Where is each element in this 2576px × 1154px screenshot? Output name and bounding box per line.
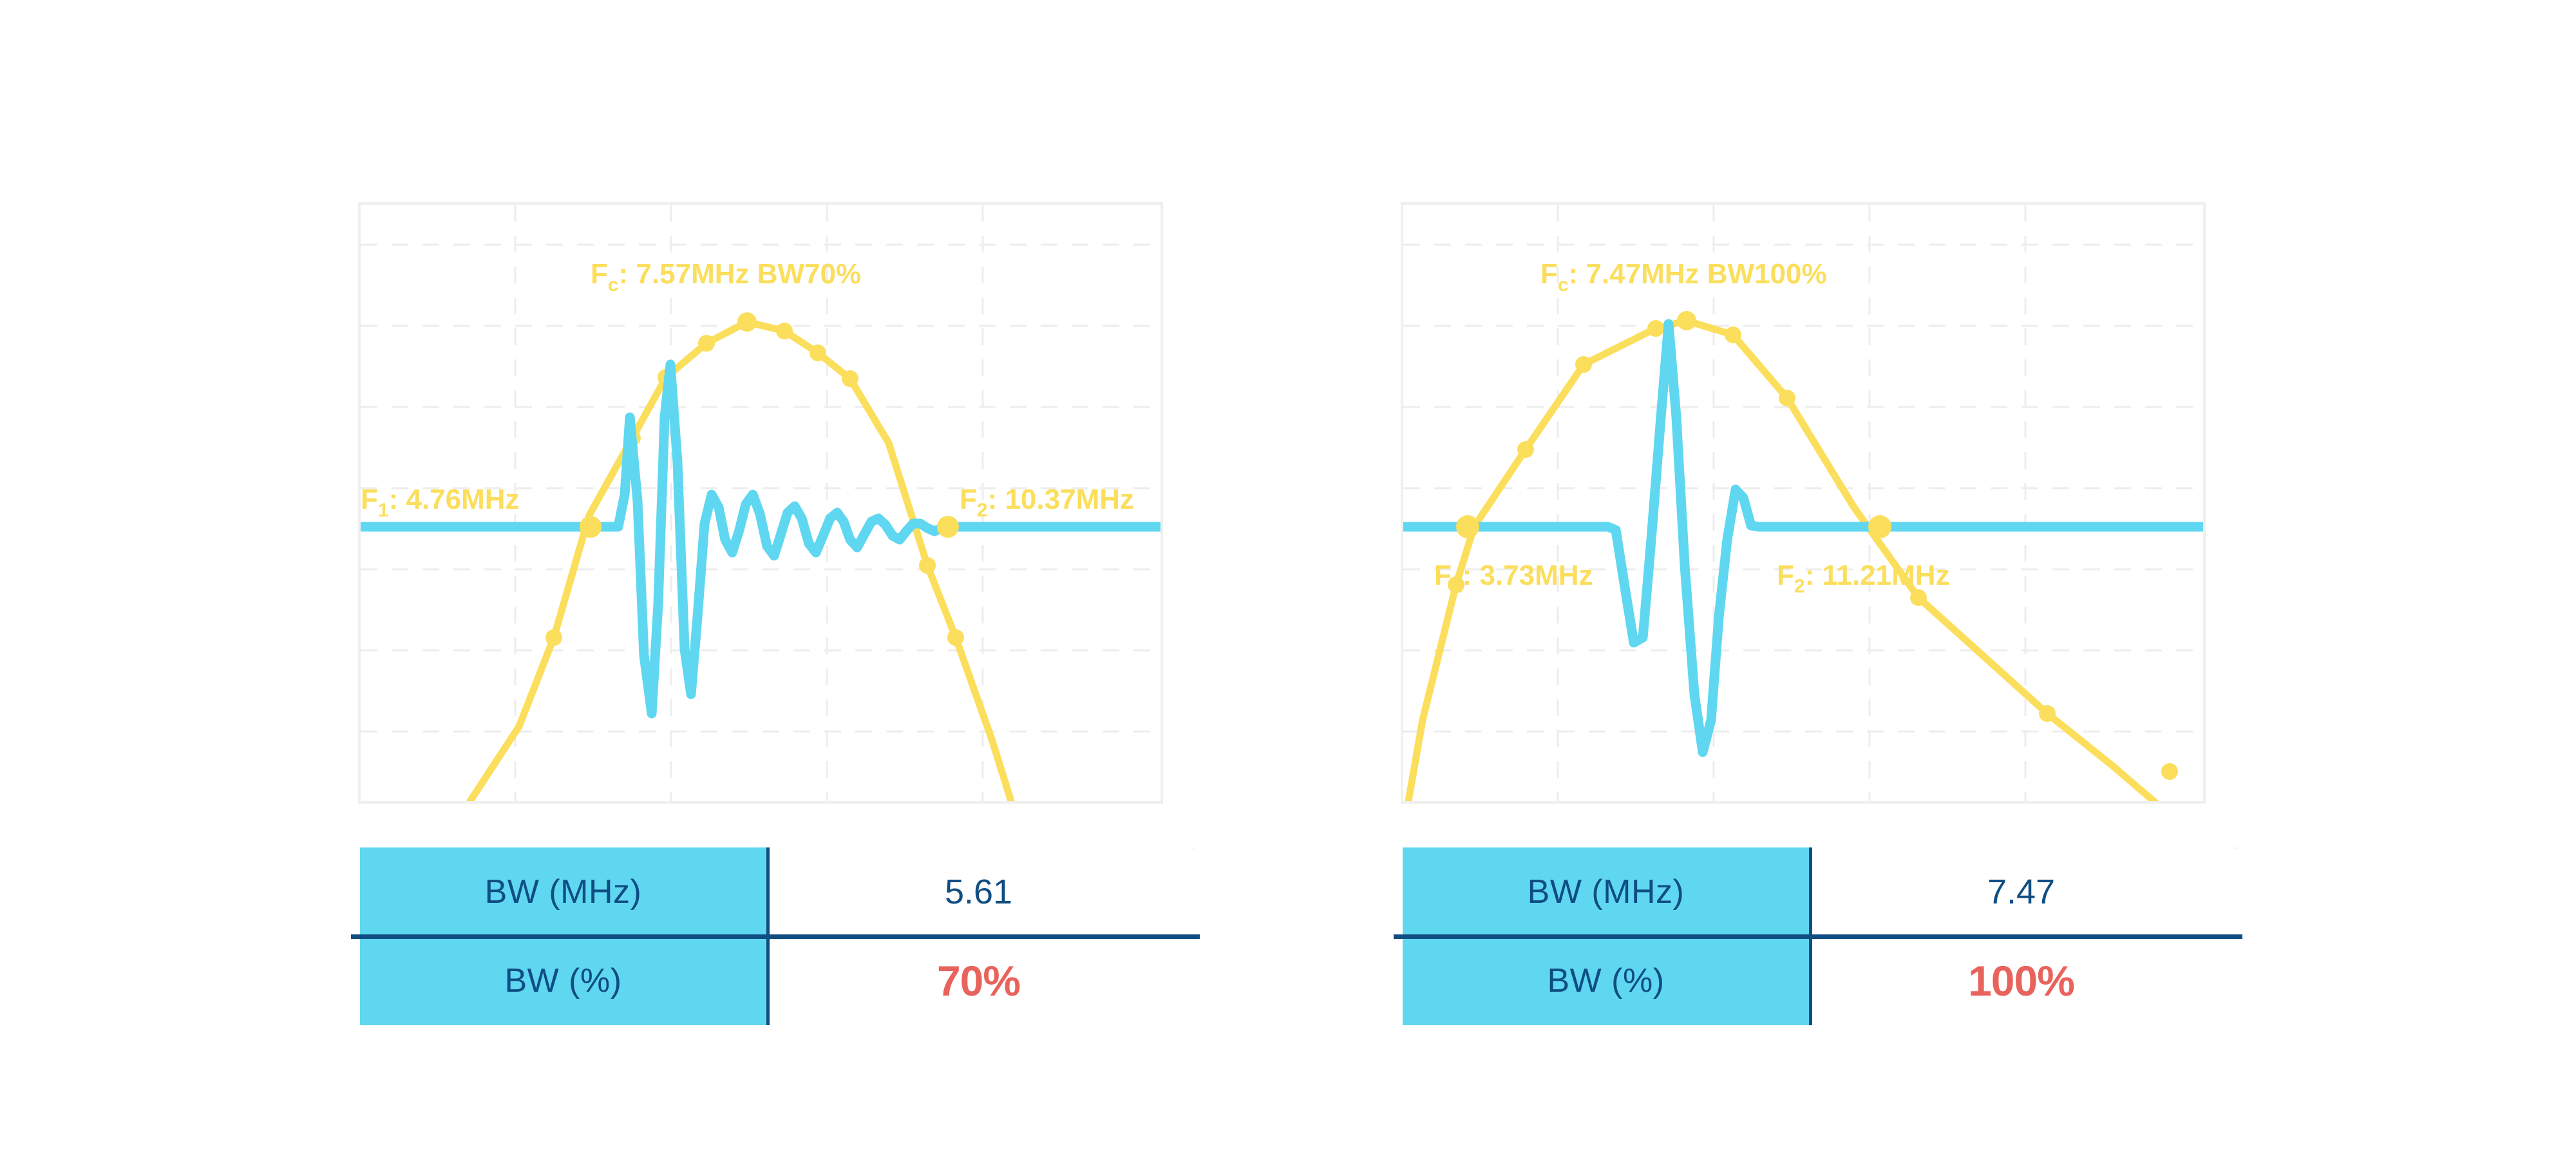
bw-percent-label-right: BW (%) bbox=[1403, 936, 1809, 1025]
annotation-f1-right-text: F1: 3.73MHz bbox=[1434, 560, 1593, 597]
spectrum-chart-left: Fc: 7.57MHz BW70% F1: 4.76MHz F2: 10.37M… bbox=[358, 202, 1163, 804]
table-row: BW (%) 100% bbox=[1403, 936, 2233, 1025]
bw-percent-value-cell-left: 70% bbox=[766, 936, 1191, 1025]
spectrum-plot-right-svg: Fc: 7.47MHz BW100% F1: 3.73MHz F2: 11.21… bbox=[1403, 205, 2203, 801]
annotation-fc-left-text: Fc: 7.57MHz BW70% bbox=[591, 258, 861, 296]
spectrum-plot-left-svg: Fc: 7.57MHz BW70% F1: 4.76MHz F2: 10.37M… bbox=[361, 205, 1160, 801]
bw-mhz-value-left: 5.61 bbox=[945, 872, 1012, 912]
annotation-fc-right-text: Fc: 7.47MHz BW100% bbox=[1540, 258, 1827, 296]
annotation-lower-frequency-left: F1: 4.76MHz bbox=[361, 484, 520, 521]
grid-lines-vertical-right bbox=[1558, 205, 2025, 801]
bw-mhz-value-cell-left: 5.61 bbox=[766, 847, 1191, 936]
bw-mhz-label-right: BW (MHz) bbox=[1403, 847, 1809, 936]
table-row: BW (MHz) 5.61 bbox=[360, 847, 1191, 936]
pulse-waveform-left bbox=[361, 364, 1160, 714]
annotation-f1-left-text: F1: 4.76MHz bbox=[361, 484, 520, 521]
grid-lines-right bbox=[1403, 245, 2203, 732]
bandwidth-table-left: BW (MHz) 5.61 BW (%) 70% bbox=[360, 847, 1191, 1025]
table-row-divider bbox=[1394, 934, 2242, 939]
bandwidth-table-right: BW (MHz) 7.47 BW (%) 100% bbox=[1403, 847, 2233, 1025]
bw-percent-value-right: 100% bbox=[1968, 956, 2074, 1005]
bw-mhz-value-right: 7.47 bbox=[1987, 872, 2055, 912]
table-row-divider bbox=[351, 934, 1200, 939]
spectrum-chart-right: Fc: 7.47MHz BW100% F1: 3.73MHz F2: 11.21… bbox=[1401, 202, 2206, 804]
table-row: BW (%) 70% bbox=[360, 936, 1191, 1025]
bw-mhz-value-cell-right: 7.47 bbox=[1809, 847, 2233, 936]
pulse-waveform-right bbox=[1403, 324, 2203, 752]
annotation-upper-frequency-left: F2: 10.37MHz bbox=[960, 484, 1134, 521]
annotation-f2-left-text: F2: 10.37MHz bbox=[960, 484, 1134, 521]
annotation-center-frequency-right: Fc: 7.47MHz BW100% bbox=[1540, 258, 1827, 296]
table-row: BW (MHz) 7.47 bbox=[1403, 847, 2233, 936]
annotation-lower-frequency-right: F1: 3.73MHz bbox=[1434, 560, 1593, 597]
bw-mhz-label-left: BW (MHz) bbox=[360, 847, 766, 936]
annotation-center-frequency-left: Fc: 7.57MHz BW70% bbox=[591, 258, 861, 296]
bw-percent-value-cell-right: 100% bbox=[1809, 936, 2233, 1025]
bw-percent-label-left: BW (%) bbox=[360, 936, 766, 1025]
bw-percent-value-left: 70% bbox=[937, 956, 1020, 1005]
